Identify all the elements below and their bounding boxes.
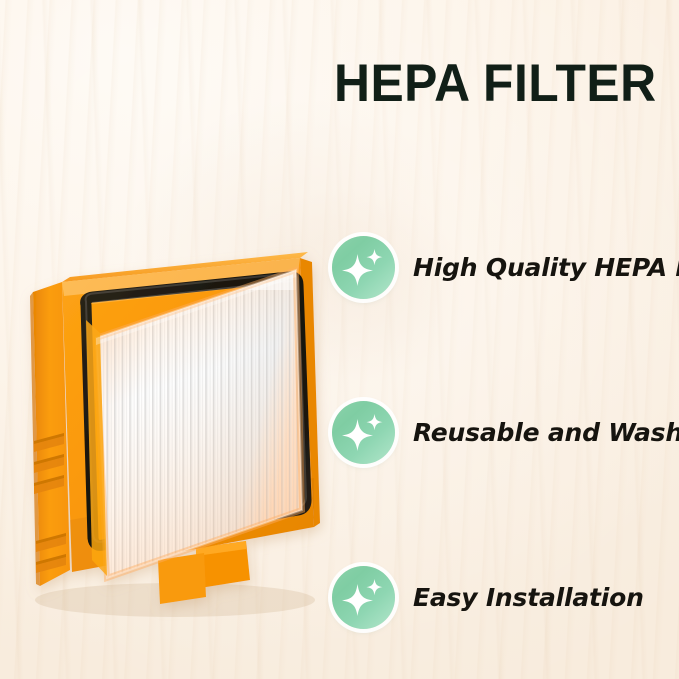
feature-label: Easy Installation [413, 583, 644, 613]
page-title: HEPA FILTER [334, 56, 658, 112]
sparkle-icon [332, 401, 395, 464]
sparkle-icon [332, 236, 395, 299]
feature-row-high-quality: High Quality HEPA Filter [332, 236, 679, 299]
product-feature-graphic: HEPA FILTER High Quality HEPA Filter Reu… [0, 0, 679, 679]
feature-row-easy-installation: Easy Installation [332, 566, 644, 629]
feature-label: High Quality HEPA Filter [413, 253, 679, 283]
sparkle-icon [332, 566, 395, 629]
feature-label: Reusable and Washable [413, 418, 679, 448]
feature-row-reusable-washable: Reusable and Washable [332, 401, 679, 464]
